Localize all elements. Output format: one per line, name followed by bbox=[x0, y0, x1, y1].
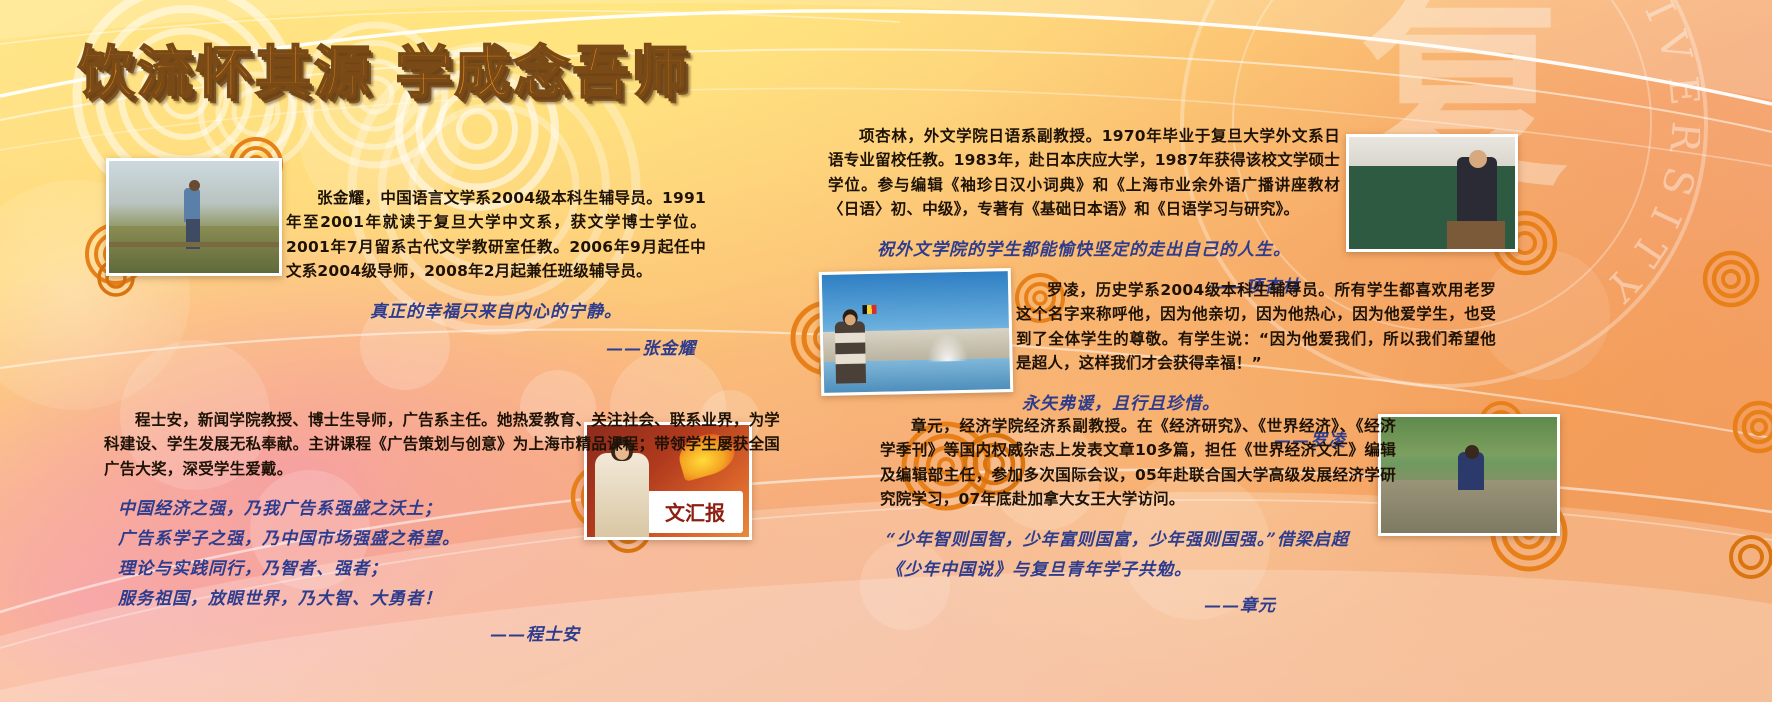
photo-person-torso bbox=[835, 321, 866, 384]
signature: ——张金耀 bbox=[286, 334, 706, 359]
quote-text: 真正的幸福只来自内心的宁静。 bbox=[286, 298, 706, 328]
quote-line: 祝外文学院的学生都能愉快坚定的走出自己的人生。 bbox=[828, 236, 1340, 266]
quote-text: 祝外文学院的学生都能愉快坚定的走出自己的人生。 bbox=[828, 236, 1340, 266]
quote-line: 《少年中国说》与复旦青年学子共勉。 bbox=[886, 556, 1396, 586]
bio-text: 程士安，新闻学院教授、博士生导师，广告系主任。她热爱教育、关注社会、联系业界，为… bbox=[104, 408, 780, 481]
photo-podium bbox=[1447, 221, 1505, 249]
quote-text: “少年智则国智，少年富则国富，少年强则国强。”借梁启超 《少年中国说》与复旦青年… bbox=[880, 526, 1396, 586]
bio-text: 罗凌，历史学系2004级本科生辅导员。所有学生都喜欢用老罗这个名字来称呼他，因为… bbox=[1016, 278, 1496, 376]
quote-line: 中国经济之强，乃我广告系强盛之沃土； bbox=[118, 495, 780, 525]
profile-block-xiang-xinglin: 项杏林，外文学院日语系副教授。1970年毕业于复旦大学外文系日语专业留校任教。1… bbox=[828, 124, 1340, 297]
photo-flag bbox=[862, 304, 876, 313]
bio-text: 项杏林，外文学院日语系副教授。1970年毕业于复旦大学外文系日语专业留校任教。1… bbox=[828, 124, 1340, 222]
photo-fountain bbox=[927, 333, 968, 362]
signature: ——程士安 bbox=[104, 620, 780, 645]
bio-text: 章元，经济学院经济系副教授。在《经济研究》、《世界经济》、《经济学季刊》等国内权… bbox=[880, 414, 1396, 512]
quote-line: 真正的幸福只来自内心的宁静。 bbox=[286, 298, 706, 328]
photo-person-torso bbox=[184, 188, 200, 222]
quote-text: 中国经济之强，乃我广告系强盛之沃土； 广告系学子之强，乃中国市场强盛之希望。 理… bbox=[104, 495, 780, 614]
quote-line: “少年智则国智，少年富则国富，少年强则国强。”借梁启超 bbox=[886, 526, 1396, 556]
photo-xiang-xinglin bbox=[1346, 134, 1518, 252]
signature: ——章元 bbox=[880, 591, 1396, 616]
profile-block-zhang-jinyao: 张金耀，中国语言文学系2004级本科生辅导员。1991年至2001年就读于复旦大… bbox=[286, 186, 706, 359]
poster-canvas: FUDAN UNIVERSITY 复 bbox=[0, 0, 1772, 702]
profile-block-cheng-shian: 程士安，新闻学院教授、博士生导师，广告系主任。她热爱教育、关注社会、联系业界，为… bbox=[104, 408, 780, 645]
quote-line: 理论与实践同行，乃智者、强者； bbox=[118, 555, 780, 585]
quote-line: 广告系学子之强，乃中国市场强盛之希望。 bbox=[118, 525, 780, 555]
bio-text: 张金耀，中国语言文学系2004级本科生辅导员。1991年至2001年就读于复旦大… bbox=[286, 186, 706, 284]
quote-line: 服务祖国，放眼世界，乃大智、大勇者！ bbox=[118, 585, 780, 615]
photo-person-head bbox=[189, 180, 200, 191]
photo-boardwalk bbox=[109, 242, 279, 247]
page-title: 饮流怀其源 学成念吾师 bbox=[78, 46, 691, 102]
photo-zhang-jinyao bbox=[106, 158, 282, 276]
profile-block-zhang-yuan: 章元，经济学院经济系副教授。在《经济研究》、《世界经济》、《经济学季刊》等国内权… bbox=[880, 414, 1396, 616]
